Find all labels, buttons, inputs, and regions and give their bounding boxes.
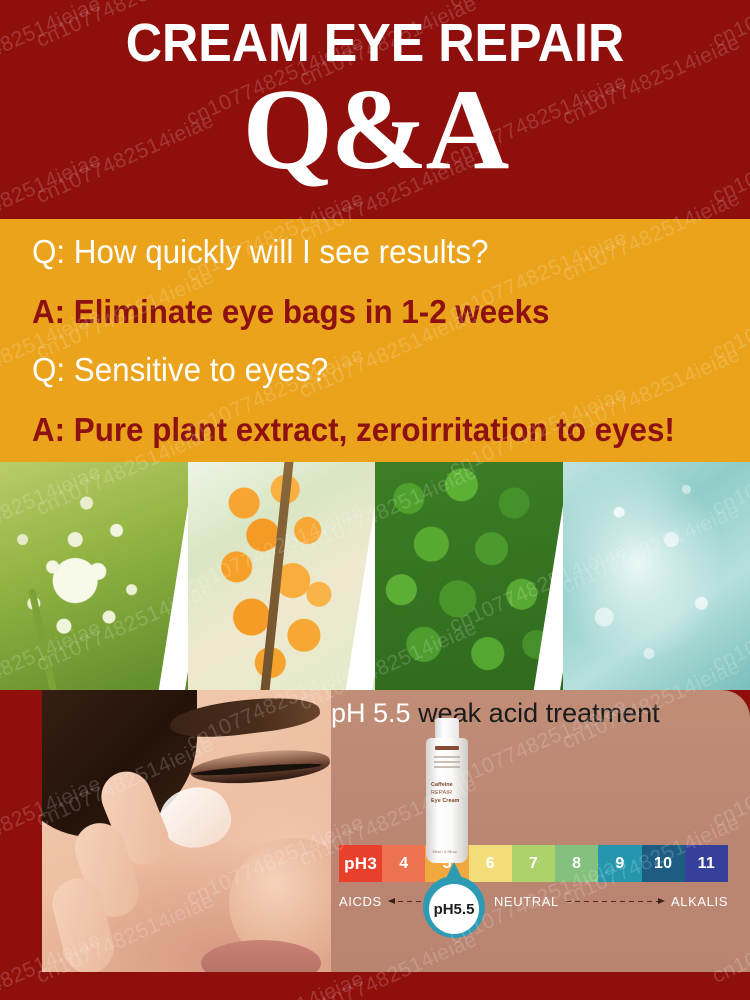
tube-product-line-2: REPAIR bbox=[431, 790, 463, 798]
water-gel-image bbox=[563, 462, 750, 690]
qa-question-2: Q: Sensitive to eyes? bbox=[32, 353, 328, 386]
botanical-panel-sea-buckthorn-berries bbox=[188, 462, 376, 690]
ph-marker-label: pH5.5 bbox=[429, 884, 479, 934]
qa-answer-1: A: Eliminate eye bags in 1-2 weeks bbox=[32, 295, 549, 328]
ph-axis: AICDS NEUTRAL ALKALIS bbox=[339, 890, 728, 912]
centella-leaves-image bbox=[375, 462, 563, 690]
qa-answer-2: A: Pure plant extract, zeroirritation to… bbox=[32, 413, 675, 446]
tube-detail-line bbox=[434, 761, 460, 763]
tube-body: Caffeine REPAIR Eye Cream 15ml / 0.5fl.o… bbox=[426, 738, 468, 863]
tube-detail-line bbox=[434, 766, 460, 768]
berry-branch bbox=[258, 462, 296, 690]
ph-scale: pH34567891011 bbox=[339, 845, 728, 882]
bottom-content-card: pH 5.5 weak acid treatment Caffeine REPA… bbox=[42, 690, 750, 972]
ph-marker-drop: pH5.5 bbox=[423, 876, 485, 948]
tube-label-text: Caffeine REPAIR Eye Cream bbox=[431, 782, 463, 806]
product-tube: Caffeine REPAIR Eye Cream 15ml / 0.5fl.o… bbox=[426, 718, 468, 863]
qa-section: Q: How quickly will I see results? A: El… bbox=[0, 219, 750, 462]
ph-cell-7: 7 bbox=[512, 845, 555, 882]
tube-volume-text: 15ml / 0.5fl.oz bbox=[432, 849, 462, 855]
ph-heading-value: pH 5.5 bbox=[331, 698, 411, 728]
flower-stem bbox=[28, 588, 61, 690]
tube-cap bbox=[435, 718, 459, 740]
ph-cell-11: 11 bbox=[685, 845, 728, 882]
face-application-photo bbox=[42, 690, 331, 972]
qa-logo: Q&A bbox=[0, 72, 750, 188]
qa-question-1: Q: How quickly will I see results? bbox=[32, 235, 488, 268]
botanical-panel-centella-leaves bbox=[375, 462, 563, 690]
sea-buckthorn-berries-image bbox=[188, 462, 376, 690]
ph-axis-label-alkali: ALKALIS bbox=[671, 894, 728, 909]
ph-panel: pH 5.5 weak acid treatment Caffeine REPA… bbox=[331, 690, 750, 972]
product-poster: CREAM EYE REPAIR Q&A Q: How quickly will… bbox=[0, 0, 750, 1000]
tube-detail-line bbox=[434, 756, 460, 758]
bottom-section: pH 5.5 weak acid treatment Caffeine REPA… bbox=[0, 690, 750, 1000]
tube-brand-line: Caffeine bbox=[431, 782, 463, 790]
ph-axis-label-neutral: NEUTRAL bbox=[494, 894, 559, 909]
ph-axis-label-acid: AICDS bbox=[339, 894, 382, 909]
ph-cell-10: 10 bbox=[642, 845, 685, 882]
face-hand bbox=[52, 770, 172, 972]
botanical-panel-white-flower-umbel bbox=[0, 462, 188, 690]
page-title: CREAM EYE REPAIR bbox=[26, 16, 724, 70]
white-flower-umbel-image bbox=[0, 462, 188, 690]
ph-axis-arrow-right bbox=[566, 901, 664, 902]
botanical-image-strip bbox=[0, 462, 750, 690]
ph-heading: pH 5.5 weak acid treatment bbox=[331, 698, 660, 729]
ph-cell-4: 4 bbox=[382, 845, 425, 882]
tube-brand-bar bbox=[435, 746, 459, 750]
botanical-panel-water-gel bbox=[563, 462, 750, 690]
ph-cell-ph3: pH3 bbox=[339, 845, 382, 882]
ph-cell-9: 9 bbox=[598, 845, 641, 882]
ph-cell-8: 8 bbox=[555, 845, 598, 882]
tube-product-line-3: Eye Cream bbox=[431, 798, 463, 806]
